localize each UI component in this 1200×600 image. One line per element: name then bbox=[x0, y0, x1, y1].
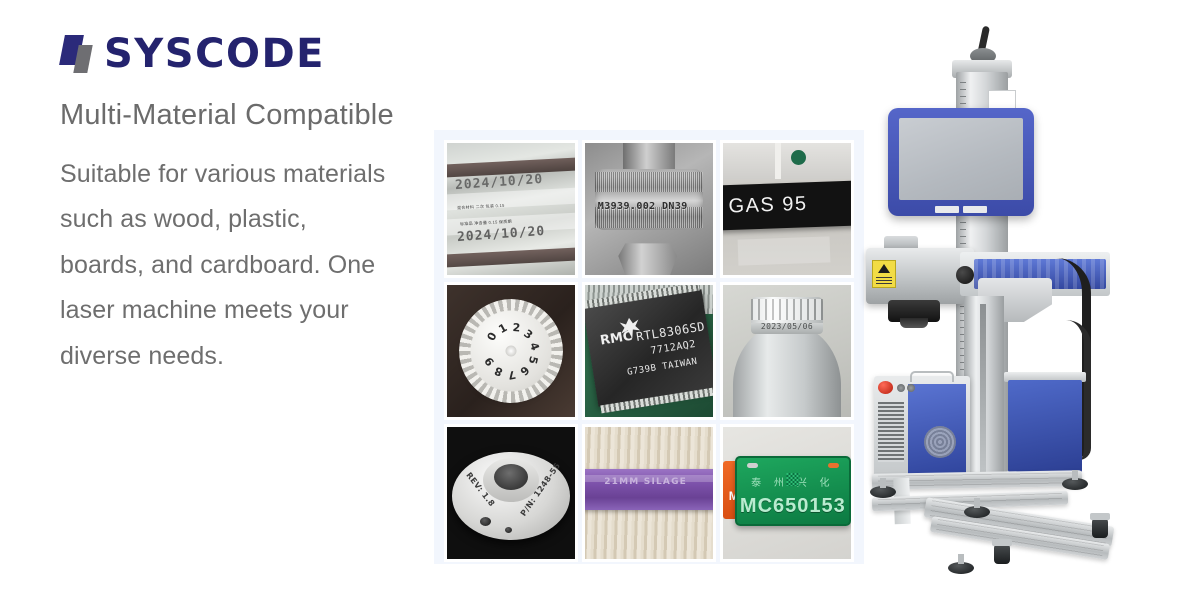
rear-control-box bbox=[1008, 380, 1082, 472]
green-dot-icon bbox=[791, 150, 806, 165]
lift-column bbox=[964, 296, 1004, 486]
caster-wheel bbox=[994, 544, 1010, 564]
gallery-cell-aluminium-flange: REV: 1.8 P/N: 1248-55 bbox=[444, 424, 578, 562]
product-banner: SYSCODE Multi-Material Compatible Suitab… bbox=[0, 0, 1200, 600]
arm-joint bbox=[956, 266, 974, 284]
gallery-cell-license-plate: M 泰 州 兴 化 MC650153 bbox=[720, 424, 854, 562]
caster-wheel bbox=[1092, 518, 1108, 538]
photo-plastic-gear: 01 23 45 67 89 bbox=[447, 285, 575, 417]
aluminium-frame-base bbox=[864, 472, 1110, 580]
photo-aluminium-flange: REV: 1.8 P/N: 1248-55 bbox=[447, 427, 575, 559]
syscode-parallelogram-mark-icon bbox=[60, 33, 100, 75]
copy-block: SYSCODE Multi-Material Compatible Suitab… bbox=[60, 28, 430, 379]
cabinet-handle[interactable] bbox=[910, 371, 954, 382]
screen-badges bbox=[935, 206, 987, 213]
photo-gas-sign: GAS 95 bbox=[723, 143, 851, 275]
marking-line-3: G739B TAIWAN bbox=[627, 357, 699, 378]
body-copy: Suitable for various materials such as w… bbox=[60, 152, 390, 380]
emergency-stop-button[interactable] bbox=[878, 381, 893, 394]
ventilation-grille bbox=[878, 402, 904, 462]
marking-text: M3939.002 DN39 bbox=[598, 201, 688, 212]
marking-line-2: 7712AQ2 bbox=[650, 339, 697, 357]
sample-gallery-panel: 混合材料 二次 包装 0.15 2024/10/20 标准品 净含量 0.15 … bbox=[434, 130, 864, 564]
laser-hazard-label-icon bbox=[872, 260, 896, 288]
brand-wordmark: SYSCODE bbox=[104, 34, 325, 74]
marking-text: MC650153 bbox=[740, 495, 846, 518]
gallery-cell-bottle-cap: 2023/05/06 bbox=[720, 282, 854, 420]
marking-text: 2023/05/06 bbox=[761, 322, 813, 331]
sample-gallery-grid: 混合材料 二次 包装 0.15 2024/10/20 标准品 净含量 0.15 … bbox=[444, 140, 854, 562]
photo-plastic-film: 混合材料 二次 包装 0.15 2024/10/20 标准品 净含量 0.15 … bbox=[447, 143, 575, 275]
gallery-cell-ic-chip: RMC RTL8306SD 7712AQ2 G739B TAIWAN bbox=[582, 282, 716, 420]
gallery-cell-plastic-gear: 01 23 45 67 89 bbox=[444, 282, 578, 420]
photo-license-plate: M 泰 州 兴 化 MC650153 bbox=[723, 427, 851, 559]
touchscreen-hmi[interactable] bbox=[888, 108, 1034, 216]
control-cabinet bbox=[874, 376, 970, 480]
cooling-fan bbox=[924, 426, 956, 458]
photo-metal-fitting: M3939.002 DN39 bbox=[585, 143, 713, 275]
leveling-foot bbox=[1062, 478, 1088, 490]
marking-text: 21MM SILAGE bbox=[604, 477, 687, 487]
f-theta-lens bbox=[900, 318, 928, 328]
gallery-cell-film-date-code: 混合材料 二次 包装 0.15 2024/10/20 标准品 净含量 0.15 … bbox=[444, 140, 578, 278]
marking-text: GAS 95 bbox=[728, 193, 808, 219]
screen-display[interactable] bbox=[899, 118, 1023, 200]
qr-code-icon bbox=[786, 473, 799, 486]
brand-logo: SYSCODE bbox=[60, 28, 430, 80]
leveling-foot bbox=[964, 506, 990, 518]
control-knob-secondary[interactable] bbox=[907, 384, 915, 392]
leveling-foot bbox=[870, 486, 896, 498]
gallery-cell-metal-fitting: M3939.002 DN39 bbox=[582, 140, 716, 278]
gallery-cell-purple-pipe: 21MM SILAGE bbox=[582, 424, 716, 562]
photo-ic-chip: RMC RTL8306SD 7712AQ2 G739B TAIWAN bbox=[585, 285, 713, 417]
photo-purple-pipe: 21MM SILAGE bbox=[585, 427, 713, 559]
laser-marking-machine-image bbox=[860, 20, 1110, 590]
photo-bottle-cap: 2023/05/06 bbox=[723, 285, 851, 417]
leveling-foot bbox=[948, 562, 974, 574]
control-knob[interactable] bbox=[897, 384, 905, 392]
marking-text: RTL8306SD bbox=[635, 320, 706, 345]
page-title: Multi-Material Compatible bbox=[60, 100, 430, 132]
gallery-cell-gas-sign: GAS 95 bbox=[720, 140, 854, 278]
